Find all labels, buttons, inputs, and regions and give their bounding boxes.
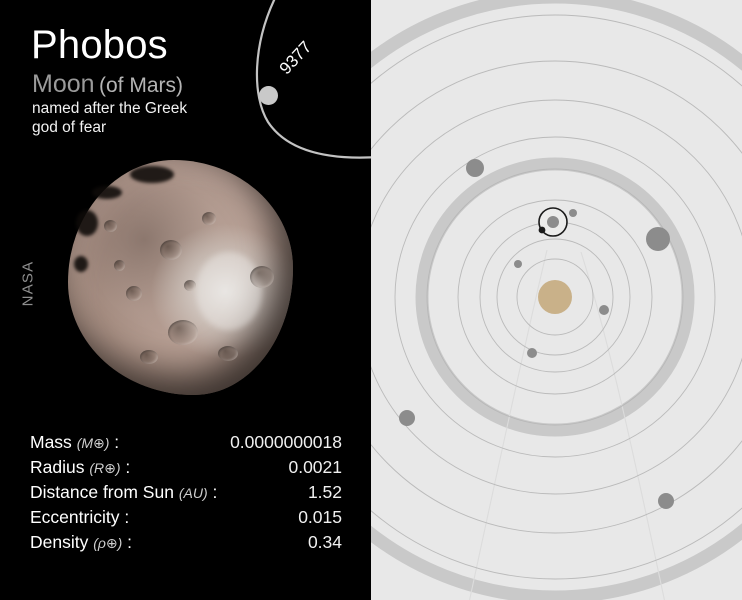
planet-dot-inner-4 bbox=[527, 348, 537, 358]
table-row: Mass (M⊕) : 0.0000000018 bbox=[30, 432, 342, 457]
crater bbox=[104, 220, 117, 232]
description-line-1: named after the Greek bbox=[32, 99, 187, 118]
planet-dot-inner-1 bbox=[514, 260, 522, 268]
crater bbox=[250, 266, 274, 288]
row-label: Radius (R⊕) : bbox=[30, 457, 130, 478]
planet-dot-inner-2 bbox=[569, 209, 577, 217]
object-type-row: Moon (of Mars) bbox=[32, 70, 183, 102]
crater bbox=[160, 240, 182, 260]
solar-system-panel bbox=[371, 0, 742, 600]
solar-system-map bbox=[371, 0, 742, 600]
crater bbox=[114, 260, 125, 271]
crater bbox=[126, 286, 142, 301]
shadow-notch-4 bbox=[74, 256, 88, 272]
row-label: Density (ρ⊕) : bbox=[30, 532, 132, 553]
row-label: Distance from Sun (AU) : bbox=[30, 482, 217, 503]
row-value: 0.015 bbox=[298, 507, 342, 528]
page-title: Phobos bbox=[31, 22, 168, 68]
object-type-label: Moon bbox=[32, 70, 95, 98]
row-value: 0.34 bbox=[308, 532, 342, 553]
crater bbox=[218, 346, 238, 361]
sun bbox=[538, 280, 572, 314]
row-value: 0.0021 bbox=[288, 457, 342, 478]
shadow-notch-1 bbox=[130, 166, 174, 183]
table-row: Density (ρ⊕) : 0.34 bbox=[30, 532, 342, 557]
image-credit: NASA bbox=[20, 249, 37, 319]
shadow-notch-3 bbox=[76, 210, 98, 236]
crater bbox=[168, 320, 198, 345]
planet-dot-inner-3 bbox=[599, 305, 609, 315]
phobos-moon-dot bbox=[539, 227, 546, 234]
phobos-image bbox=[68, 160, 293, 395]
sun-disc bbox=[538, 280, 572, 314]
mars-highlight-marker bbox=[539, 208, 567, 236]
row-label: Eccentricity : bbox=[30, 507, 129, 528]
moon-orbit-position-dot bbox=[259, 86, 278, 105]
row-label: Mass (M⊕) : bbox=[30, 432, 119, 453]
mars-dot bbox=[547, 216, 559, 228]
planet-dot-saturn bbox=[466, 159, 484, 177]
table-row: Eccentricity : 0.015 bbox=[30, 507, 342, 532]
crater bbox=[140, 350, 158, 364]
shadow-notch-2 bbox=[92, 186, 122, 199]
description-line-2: god of fear bbox=[32, 118, 106, 137]
table-row: Radius (R⊕) : 0.0021 bbox=[30, 457, 342, 482]
planet-dot-uranus bbox=[399, 410, 415, 426]
properties-table: Mass (M⊕) : 0.0000000018 Radius (R⊕) : 0… bbox=[30, 432, 342, 557]
planet-dots bbox=[399, 159, 674, 509]
infographic-card: 9377 Phobos Moon (of Mars) named after t… bbox=[0, 0, 742, 600]
crater bbox=[184, 280, 196, 291]
object-parent-label: (of Mars) bbox=[99, 74, 183, 97]
left-info-panel: 9377 Phobos Moon (of Mars) named after t… bbox=[0, 0, 371, 600]
planet-dot-jupiter bbox=[646, 227, 670, 251]
row-value: 1.52 bbox=[308, 482, 342, 503]
highlight-patch bbox=[196, 252, 262, 330]
crater bbox=[202, 212, 216, 225]
planet-dot-neptune bbox=[658, 493, 674, 509]
table-row: Distance from Sun (AU) : 1.52 bbox=[30, 482, 342, 507]
row-value: 0.0000000018 bbox=[230, 432, 342, 453]
